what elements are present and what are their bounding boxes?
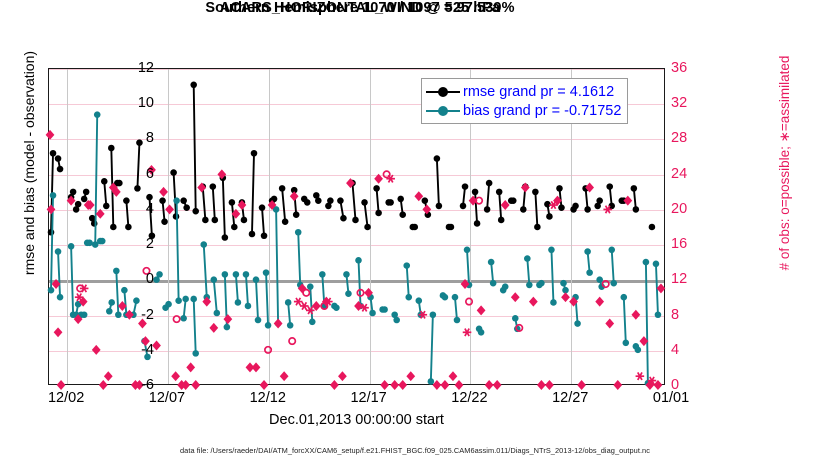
legend-item-rmse[interactable]: rmse grand pr = 4.1612 xyxy=(426,82,621,101)
left-tick-label: 0 xyxy=(118,271,154,287)
right-tick-label: 28 xyxy=(671,130,705,146)
series--obs-possible-o- xyxy=(77,171,609,353)
x-tick-label: 12/17 xyxy=(329,390,409,406)
x-axis-label: Dec.01,2013 00:00:00 start xyxy=(48,412,665,428)
left-tick-label: -4 xyxy=(118,342,154,358)
legend-label: rmse grand pr = 4.1612 xyxy=(463,84,614,100)
x-tick-label: 12/02 xyxy=(26,390,106,406)
x-tick-label: 12/22 xyxy=(429,390,509,406)
left-tick-label: 6 xyxy=(118,166,154,182)
right-tick-label: 8 xyxy=(671,307,705,323)
right-tick-label: 24 xyxy=(671,166,705,182)
x-tick-label: 12/27 xyxy=(530,390,610,406)
right-axis-label: # of obs: o=possible; ∗=assimilated xyxy=(777,0,793,328)
left-axis-label: rmse and bias (model - observation) xyxy=(21,3,37,323)
data-file-caption: data file: /Users/raeder/DAI/ATM_forcXX/… xyxy=(0,446,830,455)
right-tick-label: 20 xyxy=(671,201,705,217)
left-tick-label: 8 xyxy=(118,130,154,146)
legend-label: bias grand pr = -0.71752 xyxy=(463,103,621,119)
right-tick-label: 4 xyxy=(671,342,705,358)
right-tick-label: 36 xyxy=(671,60,705,76)
legend-item-bias[interactable]: bias grand pr = -0.71752 xyxy=(426,101,621,120)
right-tick-label: 32 xyxy=(671,95,705,111)
left-tick-label: -2 xyxy=(118,307,154,323)
right-tick-label: 12 xyxy=(671,271,705,287)
legend-swatch-rmse-icon xyxy=(426,85,460,99)
left-tick-label: 2 xyxy=(118,236,154,252)
left-tick-label: 12 xyxy=(118,60,154,76)
x-tick-label: 01/01 xyxy=(631,390,711,406)
left-tick-label: 10 xyxy=(118,95,154,111)
chart-legend[interactable]: rmse grand pr = 4.1612bias grand pr = -0… xyxy=(421,78,628,124)
right-tick-label: 16 xyxy=(671,236,705,252)
page-title-line2: ACARS_HORIZONTAL_WIND @ 525 hPa xyxy=(0,0,720,16)
x-tick-label: 12/07 xyxy=(127,390,207,406)
x-tick-label: 12/12 xyxy=(228,390,308,406)
left-tick-label: 4 xyxy=(118,201,154,217)
legend-swatch-bias-icon xyxy=(426,104,460,118)
